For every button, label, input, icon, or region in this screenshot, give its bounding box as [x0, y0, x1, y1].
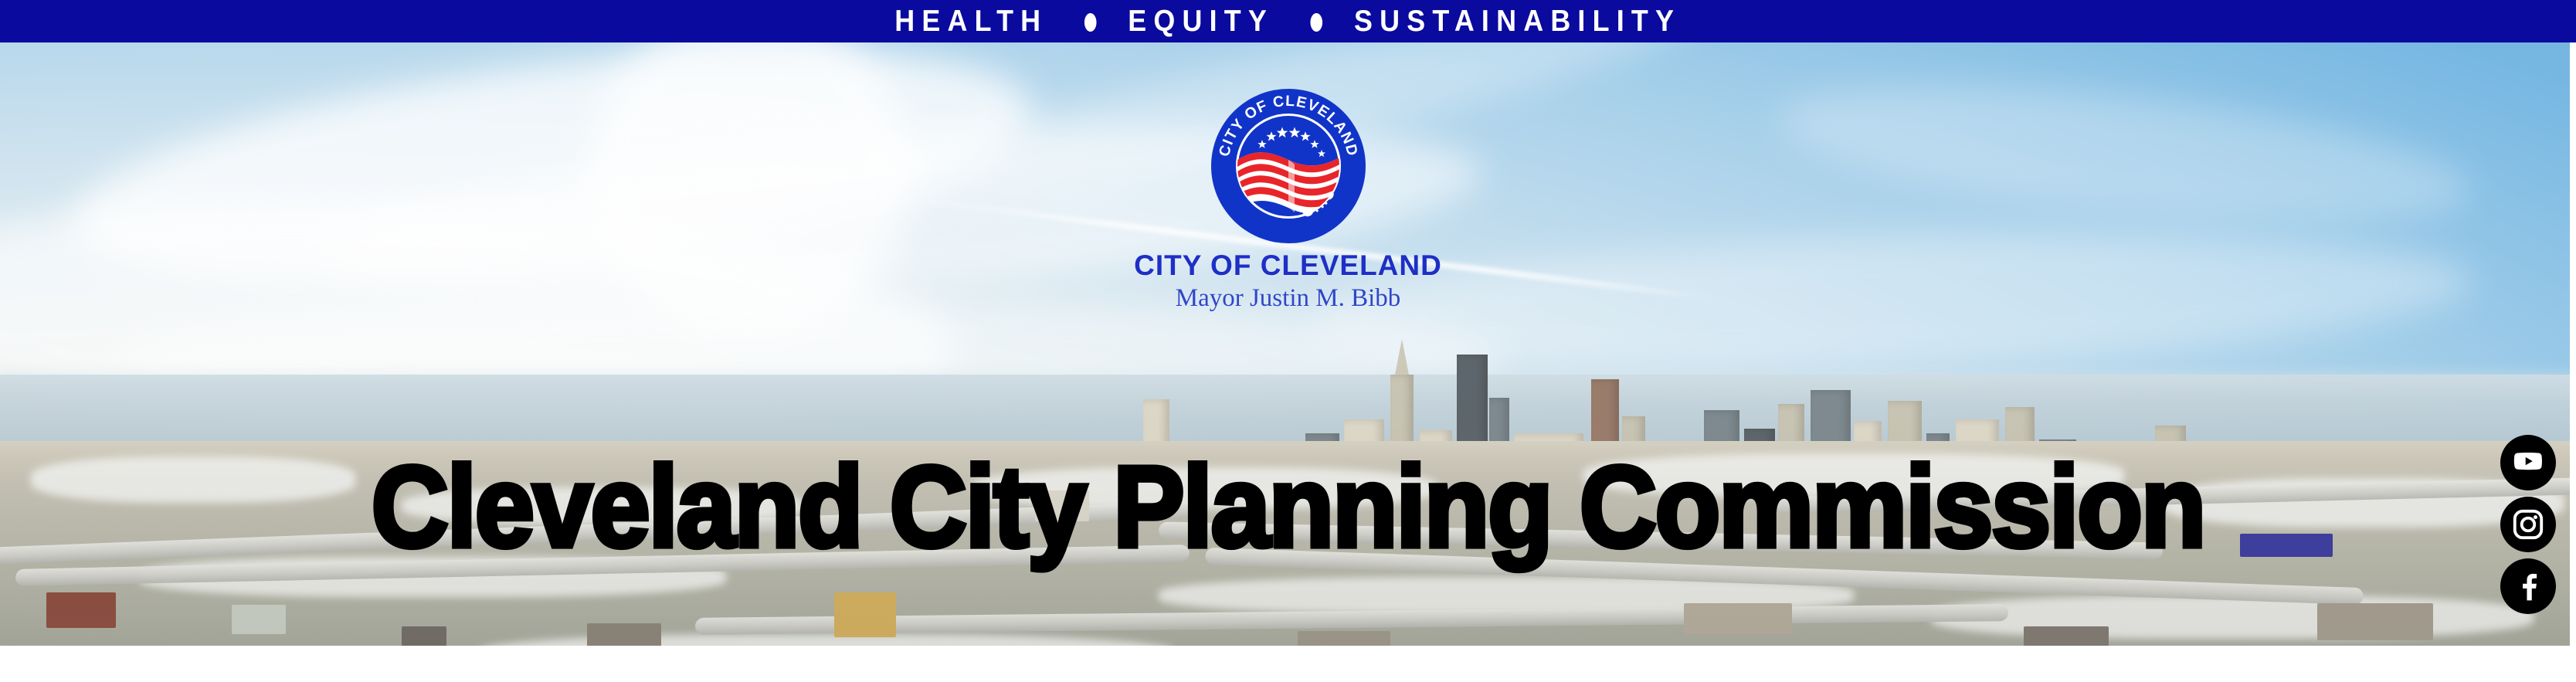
tagline-banner: HEALTH EQUITY SUSTAINABILITY — [0, 0, 2576, 42]
facebook-icon[interactable] — [2500, 558, 2556, 614]
social-links-rail — [2499, 435, 2557, 614]
building-block — [1298, 631, 1390, 646]
page-root: HEALTH EQUITY SUSTAINABILITY — [0, 0, 2576, 682]
building-block — [1684, 603, 1792, 634]
church-block — [834, 592, 896, 637]
instagram-icon[interactable] — [2500, 497, 2556, 552]
city-brand-lockup: CITY OF CLEVELAND OHIO — [1072, 89, 1505, 311]
tagline-item-sustainability: SUSTAINABILITY — [1354, 6, 1681, 36]
brand-name: CITY OF CLEVELAND — [1072, 251, 1505, 281]
city-of-cleveland-ohio-seal-icon: CITY OF CLEVELAND OHIO — [1211, 89, 1366, 243]
building-block — [587, 623, 661, 646]
building-block — [2317, 603, 2433, 640]
building-block — [402, 626, 446, 646]
bullet-separator-icon — [1084, 13, 1097, 32]
terminal-tower-spire — [1395, 339, 1409, 375]
right-edge-strip — [2570, 42, 2576, 646]
youtube-icon[interactable] — [2500, 435, 2556, 490]
tagline-item-equity: EQUITY — [1128, 6, 1274, 36]
brand-subtitle-mayor: Mayor Justin M. Bibb — [1072, 285, 1505, 312]
tagline-text-group: HEALTH EQUITY SUSTAINABILITY — [895, 6, 1682, 36]
tagline-item-health: HEALTH — [895, 6, 1048, 36]
building-block — [2024, 626, 2109, 646]
building-block — [46, 592, 116, 628]
snow-patch — [1931, 595, 2534, 639]
page-title: Cleveland City Planning Commission — [0, 450, 2576, 565]
bullet-separator-icon — [1311, 13, 1323, 32]
snow-patch — [479, 634, 1174, 646]
seal-wrapper: CITY OF CLEVELAND OHIO — [1072, 89, 1505, 243]
bottom-edge-strip — [0, 646, 2576, 682]
building-block — [232, 605, 286, 634]
